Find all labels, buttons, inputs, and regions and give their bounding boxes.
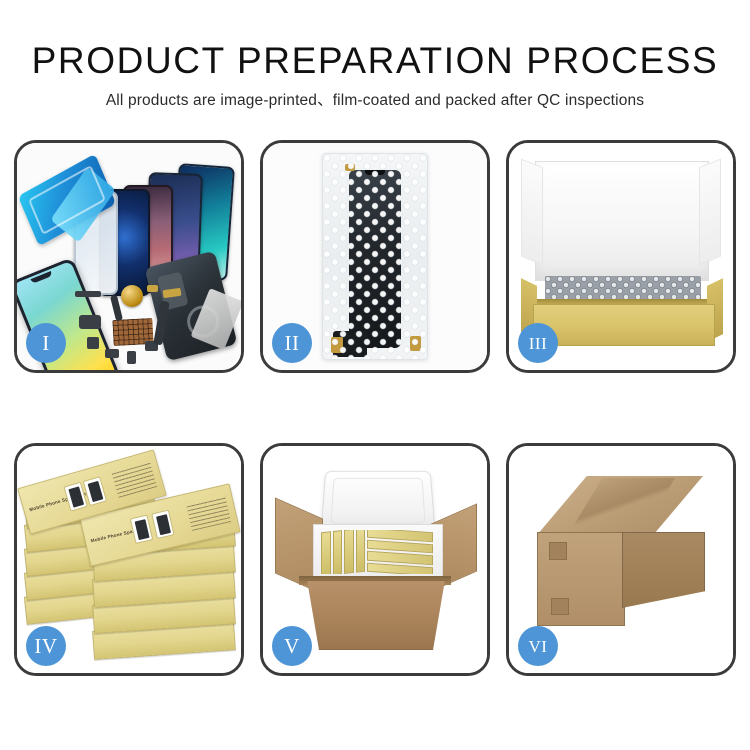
page-title: PRODUCT PREPARATION PROCESS — [0, 40, 750, 82]
step-panel-3[interactable]: III — [506, 140, 736, 373]
bubble-bag-icon — [322, 153, 428, 360]
lcd-screen-icon — [349, 170, 401, 348]
foam-lid-open-icon — [320, 471, 435, 532]
box-spec-text-lines — [111, 462, 157, 498]
gold-connector-c-icon — [345, 164, 355, 171]
foam-lid-icon — [535, 161, 709, 281]
page-header: PRODUCT PREPARATION PROCESS All products… — [0, 0, 750, 128]
component-bar-icon — [75, 291, 101, 297]
component-chip2-icon — [105, 349, 119, 358]
screen-flex-cable-icon — [333, 331, 367, 357]
box-spec-text-lines — [186, 497, 231, 531]
packed-boxes-icon — [321, 530, 433, 574]
component-block-icon — [79, 315, 101, 329]
step-panel-4[interactable]: Mobile Phone Spare Parts Mobile Phone Sp… — [14, 443, 244, 676]
speaker-module-icon — [121, 285, 143, 307]
component-chip-icon — [87, 337, 99, 349]
gold-connector-a-icon — [331, 337, 343, 353]
gold-contact2-icon — [147, 285, 158, 292]
step-panel-1[interactable]: I — [14, 140, 244, 373]
step-panel-6[interactable]: VI — [506, 443, 736, 676]
carton-tape-upper-icon — [549, 542, 567, 560]
foam-lid-right-icon — [699, 159, 721, 266]
yellow-box-front-icon — [533, 304, 715, 346]
step-badge-1: I — [26, 323, 66, 363]
process-steps-grid: I II III — [14, 140, 736, 676]
step-panel-5[interactable]: V — [260, 443, 490, 676]
step-panel-2[interactable]: II — [260, 140, 490, 373]
box-window-icon — [151, 510, 174, 539]
step-badge-6: VI — [518, 626, 558, 666]
carton-tape-lower-icon — [551, 598, 569, 615]
component-chip3-icon — [127, 351, 136, 364]
gold-connector-b-icon — [410, 336, 421, 351]
step-badge-3: III — [518, 323, 558, 363]
step-badge-5: V — [272, 626, 312, 666]
step-badge-4: IV — [26, 626, 66, 666]
step-badge-2: II — [272, 323, 312, 363]
box-window-icon — [130, 515, 153, 544]
carton-body-icon — [301, 580, 451, 650]
page-subtitle: All products are image-printed、film-coat… — [0, 88, 750, 110]
foam-lid-left-icon — [521, 159, 543, 266]
